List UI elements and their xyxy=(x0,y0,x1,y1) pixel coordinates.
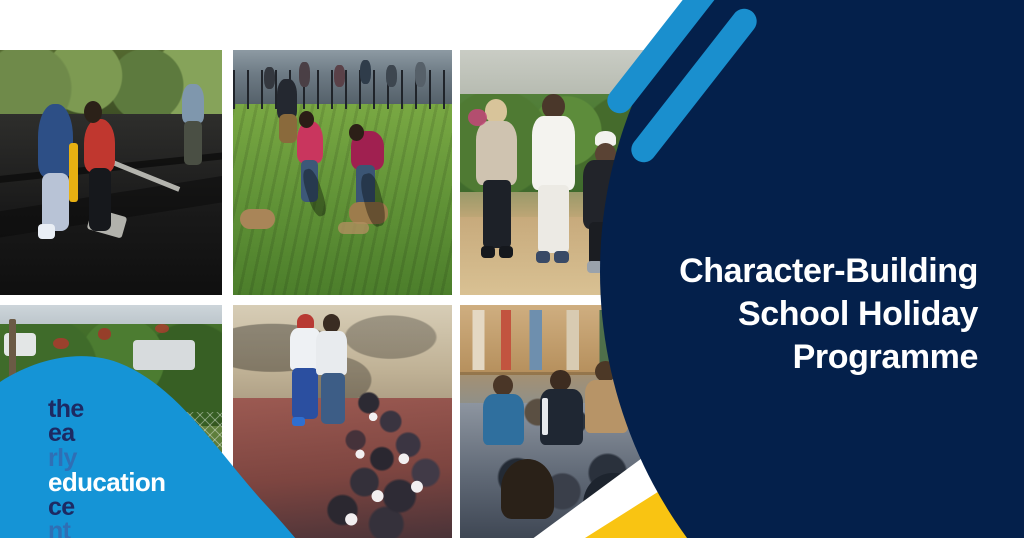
photo-2 xyxy=(233,50,452,295)
logo-wordmark: the early education centre xyxy=(48,397,165,538)
logo-centre-b: nt xyxy=(48,519,165,538)
page-title: Character-Building School Holiday Progra… xyxy=(618,250,978,378)
logo-centre-a: ce xyxy=(48,495,165,519)
logo: the early education centre xyxy=(0,337,338,538)
headline-line-2: School Holiday xyxy=(618,293,978,336)
logo-line-early: early xyxy=(48,421,165,470)
logo-line-education: education xyxy=(48,470,165,495)
logo-line-centre: centre xyxy=(48,495,165,538)
photo-1 xyxy=(0,50,222,295)
headline-line-1: Character-Building xyxy=(618,250,978,293)
logo-line-the: the xyxy=(48,397,165,421)
logo-early-a: ea xyxy=(48,421,165,445)
promotional-banner: Character-Building School Holiday Progra… xyxy=(0,0,1024,538)
headline-line-3: Programme xyxy=(618,336,978,379)
